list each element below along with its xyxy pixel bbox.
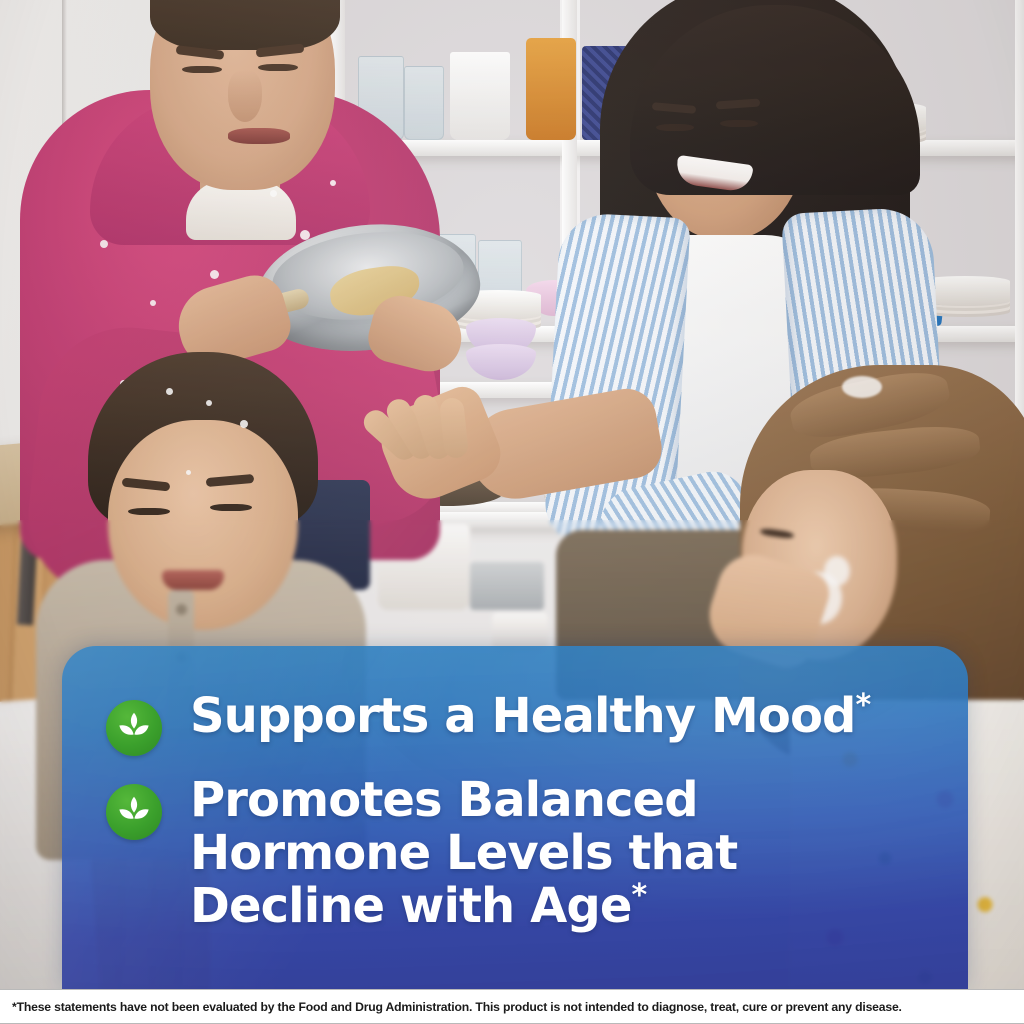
glass-jar xyxy=(404,66,444,140)
fda-disclaimer-text: *These statements have not been evaluate… xyxy=(12,1000,902,1014)
benefit-2-asterisk: * xyxy=(631,878,647,913)
promo-image-canvas: Supports a Healthy Mood* Promotes Balanc… xyxy=(0,0,1024,1024)
benefit-text-2: Promotes Balanced Hormone Levels that De… xyxy=(190,774,737,932)
benefit-1-line-1: Supports a Healthy Mood xyxy=(190,688,856,744)
leaf-sprout-icon xyxy=(106,784,162,840)
metal-tray xyxy=(470,562,544,610)
benefit-text-1: Supports a Healthy Mood* xyxy=(190,690,871,743)
benefit-2-line-3: Decline with Age xyxy=(190,878,631,934)
benefit-item-2: Promotes Balanced Hormone Levels that De… xyxy=(106,774,737,932)
benefit-2-line-1: Promotes Balanced xyxy=(190,774,737,827)
white-mug xyxy=(450,52,510,140)
benefit-item-1: Supports a Healthy Mood* xyxy=(106,690,871,756)
amber-jar xyxy=(526,38,576,140)
benefit-1-asterisk: * xyxy=(856,688,872,723)
leaf-sprout-icon xyxy=(106,700,162,756)
benefit-2-line-2: Hormone Levels that xyxy=(190,827,737,880)
fda-disclaimer-bar: *These statements have not been evaluate… xyxy=(0,989,1024,1024)
benefits-panel: Supports a Healthy Mood* Promotes Balanc… xyxy=(62,646,968,990)
